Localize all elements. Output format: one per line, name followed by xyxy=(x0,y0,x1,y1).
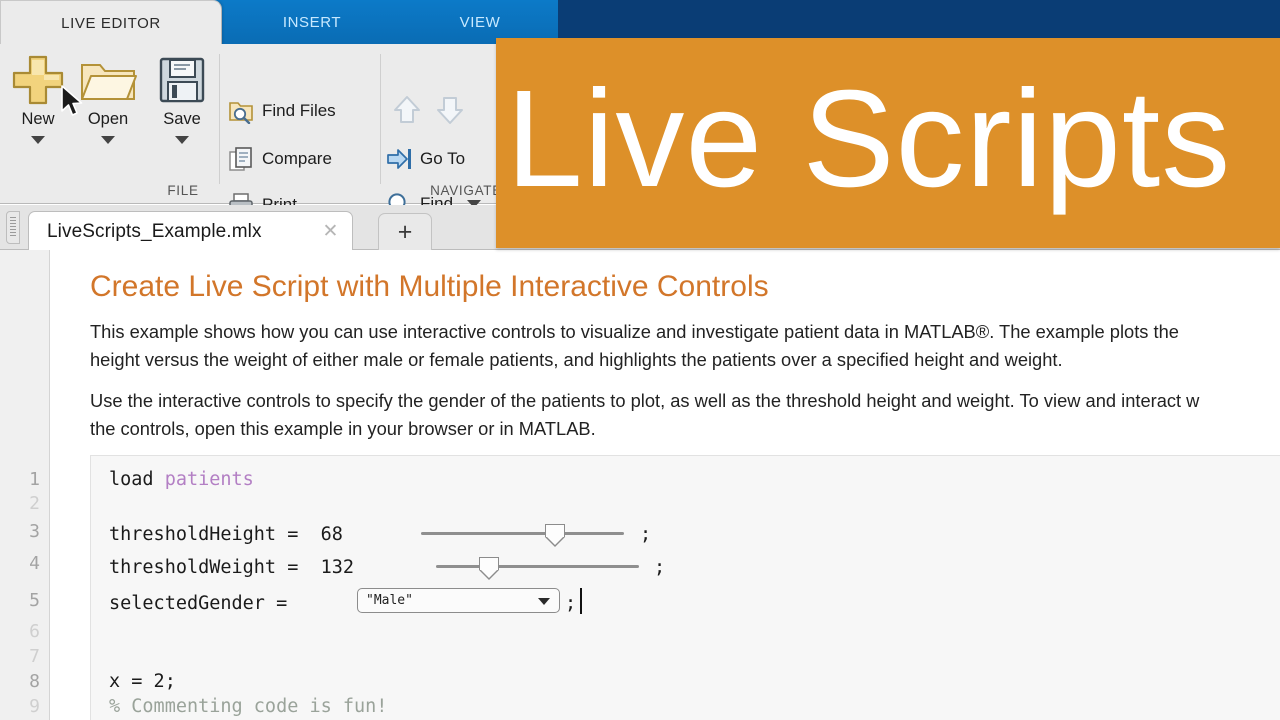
text-cursor xyxy=(580,588,582,614)
code-label-threshold-height: thresholdHeight = xyxy=(109,524,309,545)
threshold-height-slider[interactable] xyxy=(421,521,624,547)
line-number: 2 xyxy=(29,493,40,514)
slider-track xyxy=(436,565,639,568)
tabbar-drag-handle[interactable] xyxy=(6,211,20,244)
save-button-label: Save xyxy=(163,110,201,129)
new-dropdown-arrow-icon[interactable] xyxy=(31,136,45,144)
code-line-8: x = 2; xyxy=(109,671,176,692)
tab-insert[interactable]: INSERT xyxy=(222,0,402,44)
code-line-4: thresholdWeight = 132 xyxy=(109,557,354,578)
line-number: 8 xyxy=(29,671,40,692)
new-button-label: New xyxy=(21,110,54,129)
paragraph: This example shows how you can use inter… xyxy=(90,318,1280,346)
paragraph: the controls, open this example in your … xyxy=(90,415,1280,443)
new-button[interactable]: New xyxy=(2,52,74,184)
open-dropdown-arrow-icon[interactable] xyxy=(101,136,115,144)
find-files-button[interactable]: Find Files xyxy=(228,93,336,129)
compare-icon xyxy=(228,146,254,172)
paragraph: height versus the weight of either male … xyxy=(90,346,1280,374)
line-number: 3 xyxy=(29,521,40,542)
save-floppy-icon xyxy=(157,52,207,108)
code-line-5-semicolon: ; xyxy=(565,593,576,614)
compare-button[interactable]: Compare xyxy=(228,141,332,177)
line-number: 4 xyxy=(29,553,40,574)
slider-track xyxy=(421,532,624,535)
slider-thumb[interactable] xyxy=(479,557,499,579)
open-folder-icon xyxy=(79,52,137,108)
ribbon-divider-1 xyxy=(219,54,220,184)
code-variable-patients: patients xyxy=(165,469,254,490)
open-button-label: Open xyxy=(88,110,128,129)
line-number-gutter: 1 2 3 4 5 6 7 8 9 xyxy=(0,250,50,720)
document-tab-livescripts-example[interactable]: LiveScripts_Example.mlx ✕ xyxy=(28,211,353,251)
selected-gender-dropdown[interactable]: "Male" xyxy=(357,588,560,613)
tab-live-editor-label: LIVE EDITOR xyxy=(61,15,161,32)
tab-view-label: VIEW xyxy=(460,14,501,31)
code-label-selected-gender: selectedGender = xyxy=(109,593,298,614)
selected-gender-value: "Male" xyxy=(358,593,413,608)
save-dropdown-arrow-icon[interactable] xyxy=(175,136,189,144)
live-scripts-banner: Live Scripts xyxy=(496,38,1280,248)
code-line-1: load patients xyxy=(109,469,254,490)
code-line-3-semicolon: ; xyxy=(640,524,651,545)
save-button[interactable]: Save xyxy=(146,52,218,184)
find-files-icon xyxy=(228,98,254,124)
threshold-weight-value: 132 xyxy=(321,557,354,578)
arrow-up-icon xyxy=(390,93,424,127)
threshold-weight-slider[interactable] xyxy=(436,554,639,580)
ribbon-divider-2 xyxy=(380,54,381,184)
paragraph: Use the interactive controls to specify … xyxy=(90,387,1280,415)
compare-label: Compare xyxy=(262,149,332,169)
code-label-threshold-weight: thresholdWeight = xyxy=(109,557,309,578)
page-title: Create Live Script with Multiple Interac… xyxy=(90,270,769,304)
threshold-height-value: 68 xyxy=(321,524,343,545)
live-script-document: Create Live Script with Multiple Interac… xyxy=(51,250,1280,720)
find-files-label: Find Files xyxy=(262,101,336,121)
line-number: 7 xyxy=(29,646,40,667)
line-number: 6 xyxy=(29,621,40,642)
code-line-9-comment: % Commenting code is fun! xyxy=(109,696,387,717)
go-to-label: Go To xyxy=(420,149,465,169)
new-tab-button[interactable]: + xyxy=(378,213,432,251)
group-label-file: FILE xyxy=(88,183,278,198)
code-block[interactable]: load patients thresholdHeight = 68 ; thr… xyxy=(90,455,1280,720)
chevron-down-icon[interactable] xyxy=(538,598,550,605)
line-number: 1 xyxy=(29,469,40,490)
code-line-5: selectedGender = xyxy=(109,593,298,614)
line-number: 9 xyxy=(29,696,40,717)
new-plus-icon xyxy=(11,52,65,108)
document-tab-label: LiveScripts_Example.mlx xyxy=(29,221,262,243)
code-line-4-semicolon: ; xyxy=(654,557,665,578)
tab-live-editor[interactable]: LIVE EDITOR xyxy=(0,0,222,46)
slider-thumb[interactable] xyxy=(545,524,565,546)
arrow-down-icon xyxy=(433,93,467,127)
navigate-down-button[interactable] xyxy=(428,92,472,128)
line-number: 5 xyxy=(29,590,40,611)
go-to-icon xyxy=(386,146,412,172)
go-to-button[interactable]: Go To xyxy=(386,141,465,177)
close-icon[interactable]: ✕ xyxy=(321,222,340,241)
open-button[interactable]: Open xyxy=(72,52,144,184)
tab-insert-label: INSERT xyxy=(283,14,341,31)
navigate-up-button[interactable] xyxy=(385,92,429,128)
code-keyword-load: load xyxy=(109,469,154,490)
live-scripts-banner-text: Live Scripts xyxy=(496,70,1231,208)
code-line-3: thresholdHeight = 68 xyxy=(109,524,343,545)
